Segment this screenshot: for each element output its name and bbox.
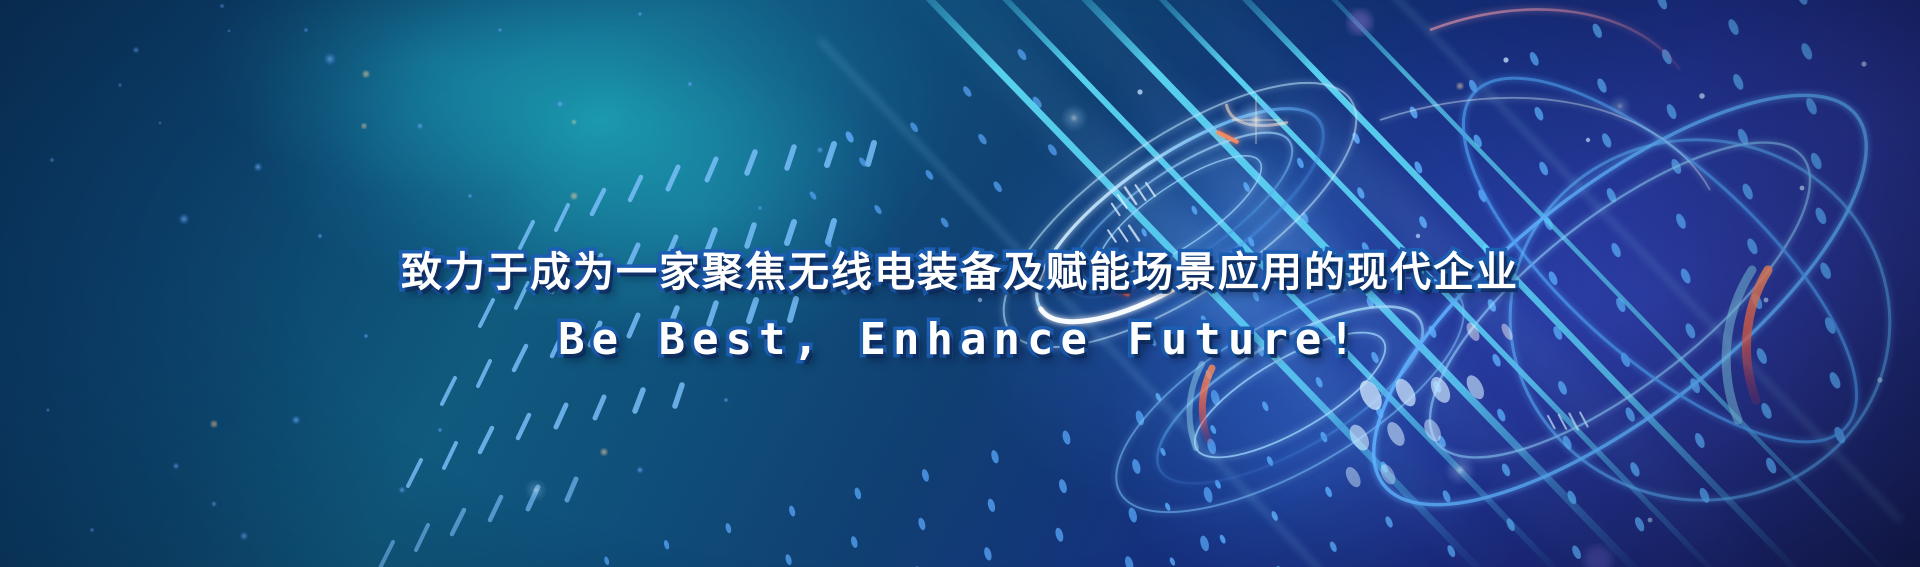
hero-banner: 致力于成为一家聚焦无线电装备及赋能场景应用的现代企业 Be Best, Enha… xyxy=(0,0,1920,567)
headline-chinese: 致力于成为一家聚焦无线电装备及赋能场景应用的现代企业 xyxy=(0,242,1920,302)
headline-english-slogan: Be Best, Enhance Future! xyxy=(0,308,1920,372)
headline-block: 致力于成为一家聚焦无线电装备及赋能场景应用的现代企业 Be Best, Enha… xyxy=(0,242,1920,372)
